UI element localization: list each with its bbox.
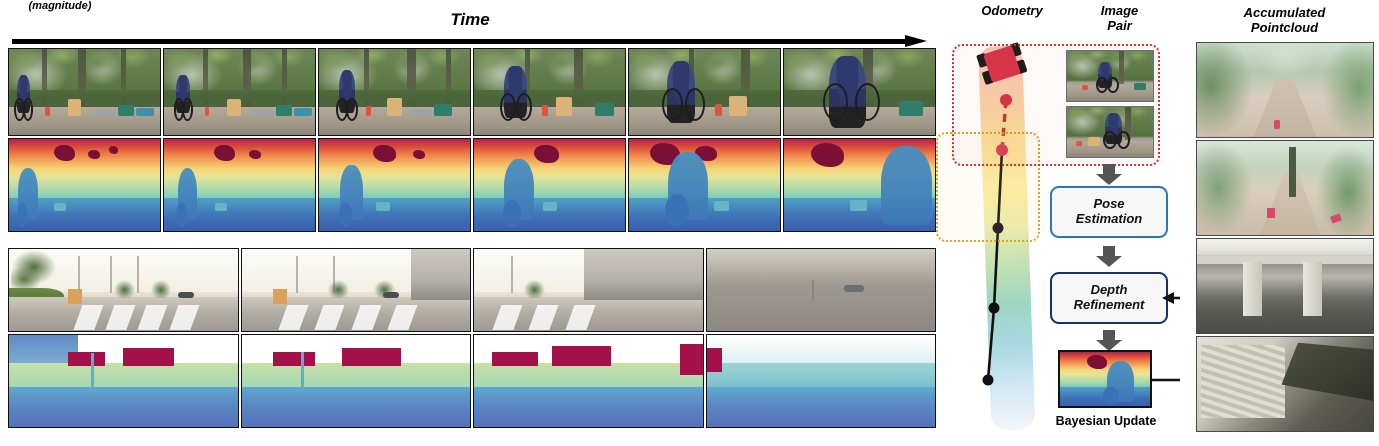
depth-far-region xyxy=(68,352,105,367)
concrete-column xyxy=(1243,262,1262,317)
rgb-street-frame xyxy=(473,248,704,332)
depth-noise-blob xyxy=(54,145,75,162)
traffic-cone xyxy=(366,106,371,116)
arrow-head xyxy=(905,35,927,47)
right-arrow-icon xyxy=(12,35,927,47)
feedback-path xyxy=(1152,298,1180,380)
depth-noise-blob xyxy=(249,150,261,159)
depth-noise-blob xyxy=(88,150,100,159)
depth-forest-row xyxy=(8,138,936,232)
image-pair-column-title: Image Pair xyxy=(1072,4,1167,33)
wooden-box xyxy=(729,96,747,116)
red-marker xyxy=(1330,213,1342,223)
odometry-column-title: Odometry xyxy=(952,4,1072,19)
building xyxy=(411,249,470,300)
dark-structure xyxy=(1281,343,1373,401)
depth-road-band xyxy=(474,387,703,427)
street-pole xyxy=(137,256,139,294)
depth-forest-frame xyxy=(783,138,936,232)
sequence-grid xyxy=(8,48,936,432)
arrow-shaft xyxy=(12,39,906,44)
rgb-street-frame xyxy=(8,248,239,332)
rgb-forest-frame xyxy=(8,48,161,136)
debris xyxy=(94,110,115,116)
parked-car xyxy=(844,285,865,292)
kiosk xyxy=(273,289,287,304)
rgb-forest-frame xyxy=(473,48,626,136)
depth-noise-blob xyxy=(214,145,235,162)
concrete-column xyxy=(1303,262,1322,317)
accumulated-title-line2: Pointcloud xyxy=(1190,21,1379,36)
depth-forest-frame xyxy=(8,138,161,232)
depth-forest-frame xyxy=(628,138,781,232)
depth-noise-blob xyxy=(534,145,558,163)
bike-wheel xyxy=(182,98,193,121)
pointcloud-underpass xyxy=(1196,238,1374,334)
depth-wheel xyxy=(503,200,521,228)
mid-tree xyxy=(524,280,545,298)
depth-noise-blob xyxy=(109,146,118,153)
depth-cyclist-silhouette xyxy=(881,146,932,225)
bike-wheel xyxy=(855,83,880,121)
rgb-forest-frame xyxy=(163,48,316,136)
feedback-loop-arrow-icon xyxy=(950,40,1180,446)
mid-tree xyxy=(328,280,349,298)
depth-far-region xyxy=(123,348,173,366)
depth-noise-blob xyxy=(413,150,425,159)
image-pair-title-line1: Image xyxy=(1072,4,1167,19)
street-pole xyxy=(110,256,112,294)
wooden-box xyxy=(227,99,241,116)
depth-street-frame xyxy=(473,334,704,428)
debris xyxy=(252,110,273,116)
ceiling-beam xyxy=(1197,256,1373,264)
traffic-cone xyxy=(45,107,50,116)
depth-far-region xyxy=(273,352,314,367)
street-pole xyxy=(78,256,80,294)
parked-car xyxy=(178,292,194,298)
green-cart xyxy=(595,103,615,116)
depth-forest-frame xyxy=(318,138,471,232)
depth-road-band xyxy=(242,387,471,427)
traffic-cone xyxy=(715,104,722,116)
depth-street-frame xyxy=(241,334,472,428)
depth-far-region xyxy=(707,348,723,372)
rgb-forest-row xyxy=(8,48,936,136)
rgb-forest-frame xyxy=(783,48,936,136)
depth-object xyxy=(215,203,227,211)
wooden-box xyxy=(387,98,402,116)
depth-object xyxy=(54,203,66,211)
debris xyxy=(410,109,431,116)
image-pair-title-line2: Pair xyxy=(1072,19,1167,34)
green-cart xyxy=(434,104,452,116)
road xyxy=(707,285,936,331)
street-pole xyxy=(511,256,513,294)
depth-street-frame xyxy=(706,334,937,428)
traffic-cone xyxy=(205,107,210,116)
red-marker xyxy=(1274,120,1280,129)
depth-far-region xyxy=(492,352,538,367)
green-cart xyxy=(276,105,293,116)
depth-wheel xyxy=(176,203,187,227)
depth-noise-blob xyxy=(811,143,844,167)
traffic-cone xyxy=(542,105,548,116)
rgb-forest-frame xyxy=(628,48,781,136)
depth-near-foliage xyxy=(9,335,78,366)
depth-road-band xyxy=(707,387,936,427)
kiosk xyxy=(68,289,82,304)
column xyxy=(812,280,814,301)
time-axis-label: Time xyxy=(0,10,940,29)
depth-forest-frame xyxy=(163,138,316,232)
depth-road-band xyxy=(9,387,238,427)
mid-tree xyxy=(114,280,135,298)
depth-noise-blob xyxy=(373,145,396,162)
pointcloud-stairs xyxy=(1196,336,1374,432)
pointcloud-forest-junction xyxy=(1196,140,1374,236)
blue-tarp xyxy=(136,108,154,117)
ground xyxy=(629,107,780,135)
depth-object xyxy=(543,202,557,211)
green-cart xyxy=(118,105,135,116)
building xyxy=(707,249,936,287)
rgb-street-frame xyxy=(706,248,937,332)
rgb-forest-frame xyxy=(318,48,471,136)
red-marker xyxy=(1267,208,1275,218)
staircase xyxy=(1201,345,1285,418)
building xyxy=(584,249,703,300)
accumulated-title-line1: Accumulated xyxy=(1190,6,1379,21)
green-cart xyxy=(899,101,923,116)
wooden-box xyxy=(68,99,82,116)
depth-object xyxy=(850,200,867,211)
depth-forest-frame xyxy=(473,138,626,232)
depth-far-region xyxy=(680,344,703,375)
bike-wheel xyxy=(500,93,516,121)
depth-object xyxy=(714,201,729,211)
tree-trunk xyxy=(1289,147,1296,198)
trail-surface xyxy=(1253,79,1316,137)
depth-street-frame xyxy=(8,334,239,428)
depth-street-row xyxy=(8,334,936,428)
depth-midground xyxy=(707,363,936,387)
accumulated-pointcloud-column xyxy=(1196,42,1374,434)
depth-sky xyxy=(707,335,936,366)
bayesian-update-label: Bayesian Update xyxy=(1022,414,1190,428)
feedback-arrow-head xyxy=(1162,292,1174,304)
parked-car xyxy=(383,292,399,298)
depth-far-region xyxy=(342,348,401,366)
pointcloud-forest-path xyxy=(1196,42,1374,138)
depth-far-region xyxy=(552,346,611,366)
rgb-street-frame xyxy=(241,248,472,332)
rgb-street-row xyxy=(8,248,936,332)
accumulated-pointcloud-title: Accumulated Pointcloud xyxy=(1190,6,1379,35)
blue-tarp xyxy=(294,108,312,117)
depth-object xyxy=(376,202,390,211)
street-pole xyxy=(296,256,298,294)
mid-tree xyxy=(151,280,172,298)
pipeline-diagram: Pose Estimation Depth Refinement Bayesia… xyxy=(950,40,1180,446)
wooden-box xyxy=(556,97,573,116)
bike-wheel xyxy=(662,88,683,121)
